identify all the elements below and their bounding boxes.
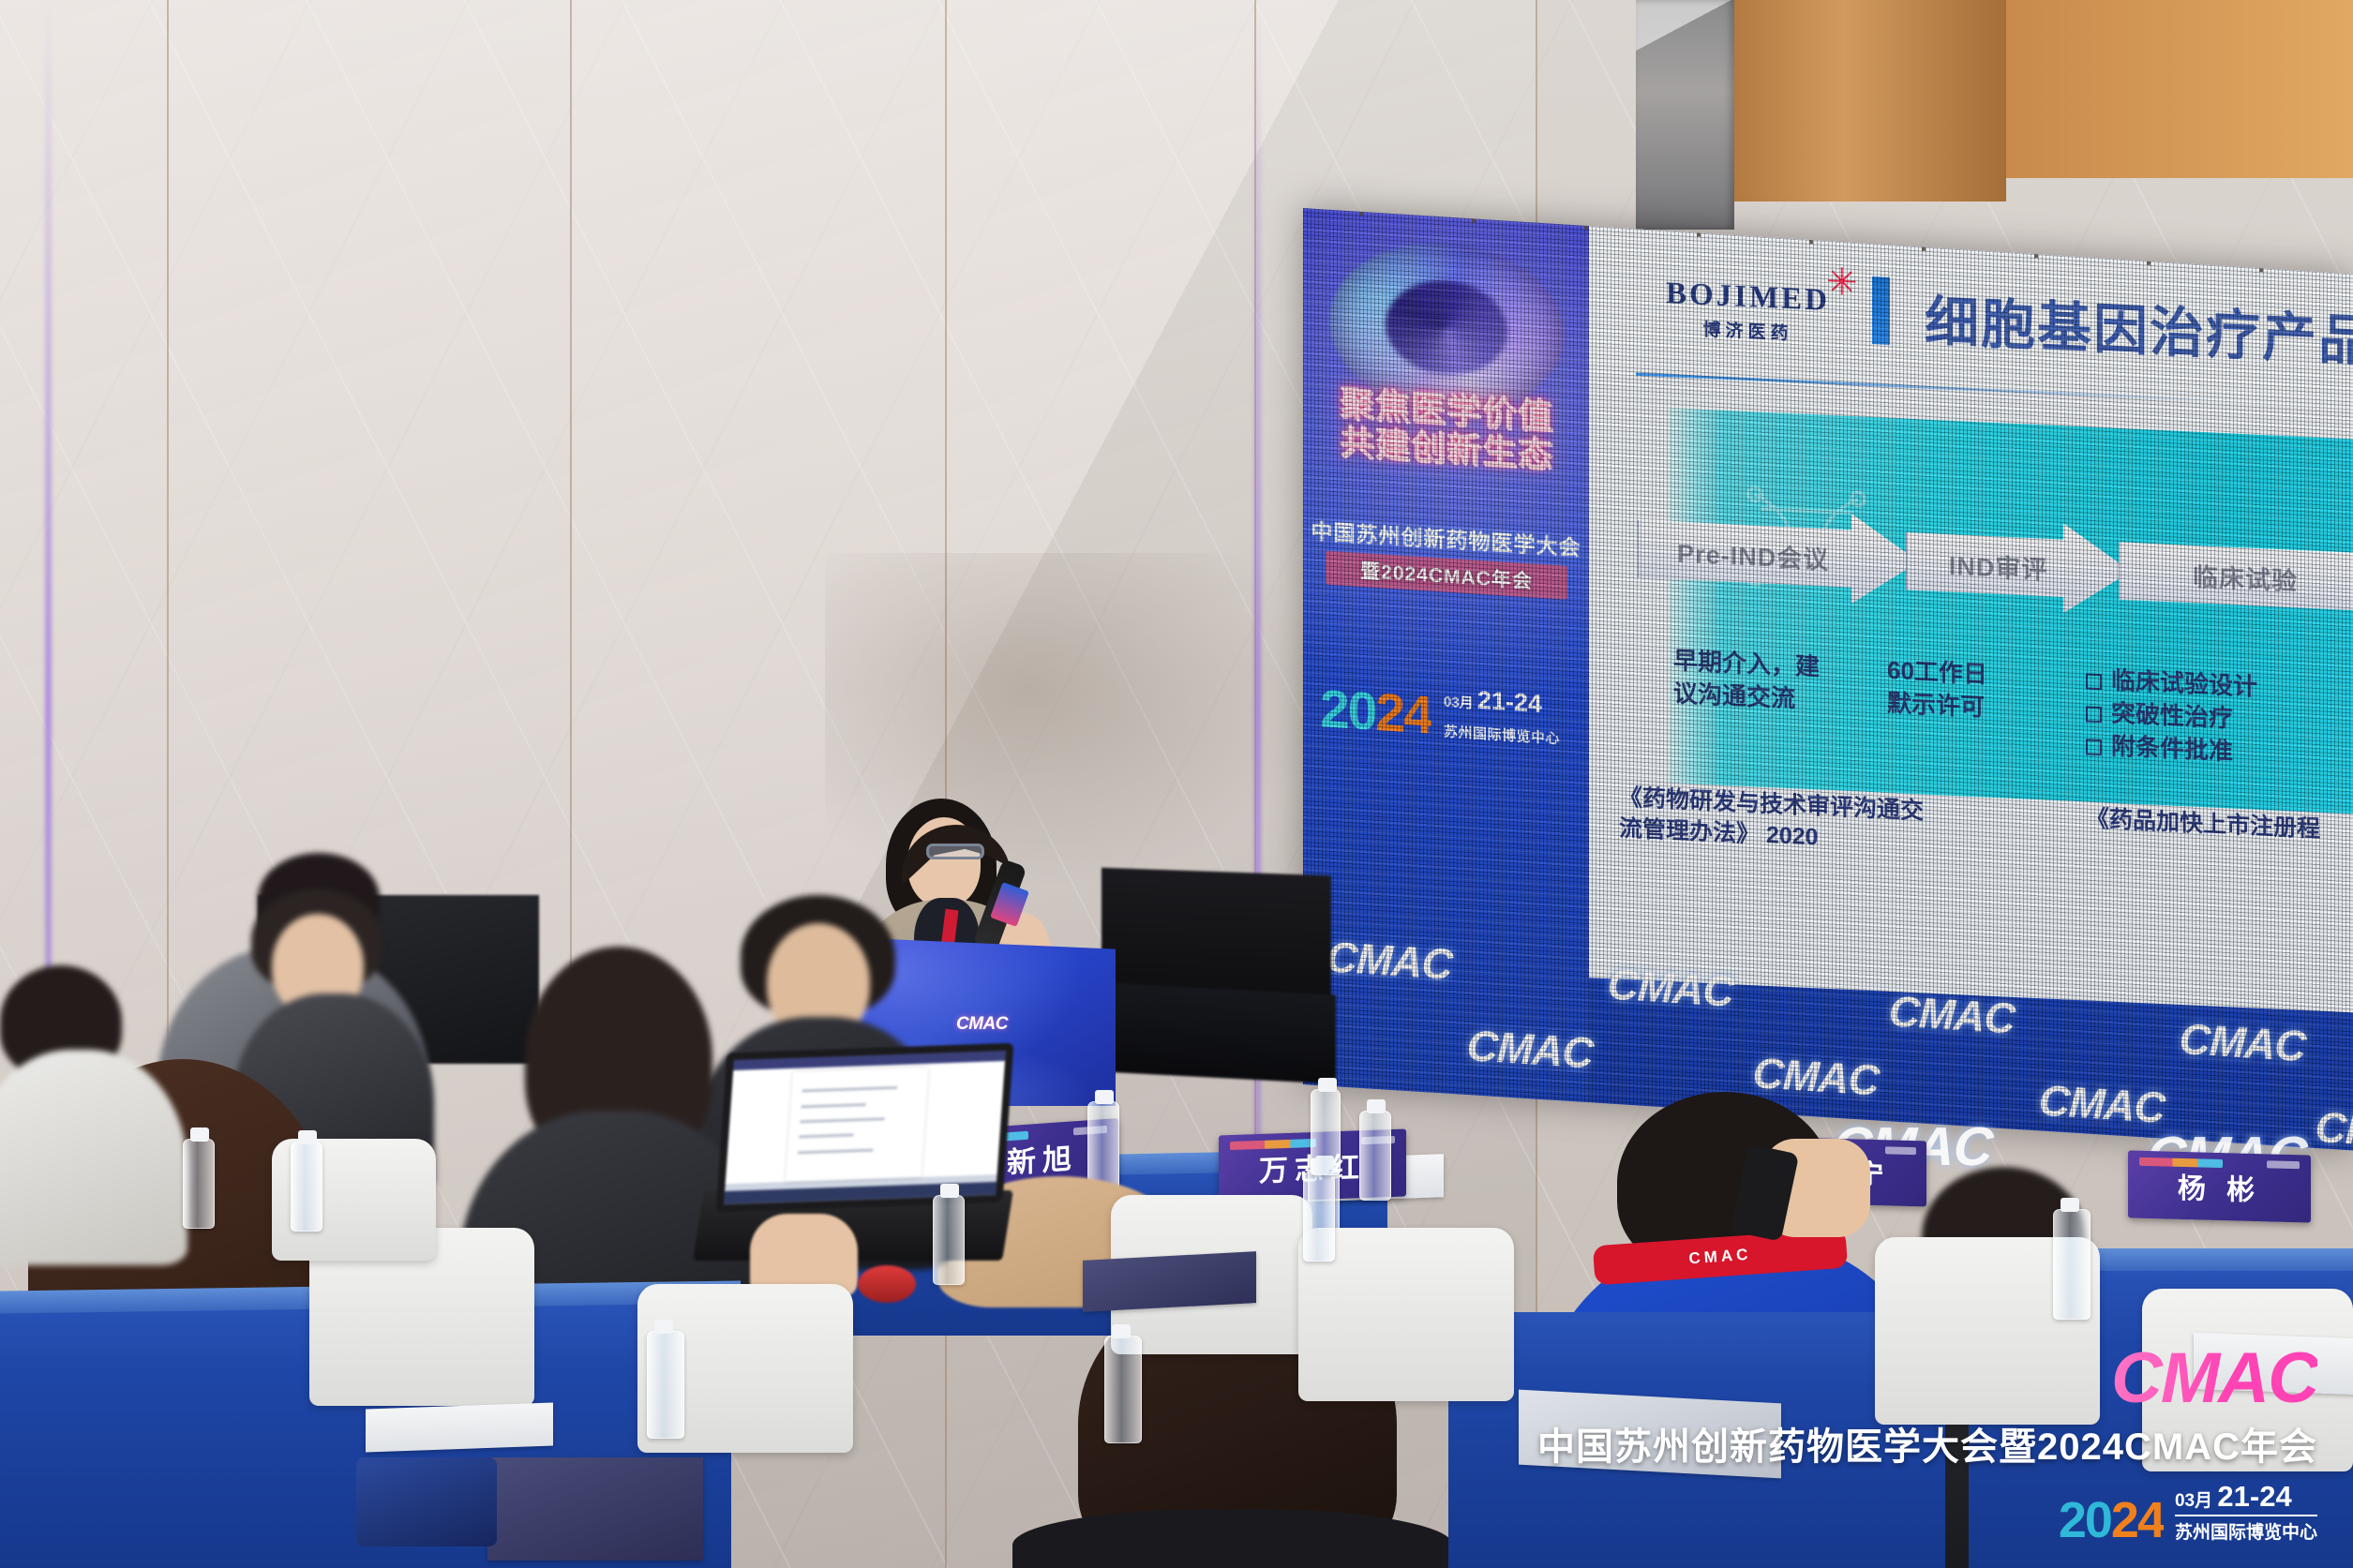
banner-date-range: 21-24 [1477, 686, 1542, 718]
name-plate-label: 杨 彬 [2178, 1165, 2261, 1208]
flow-step-ind-review: IND审评 [1906, 516, 2131, 617]
watermark-conference-name: 中国苏州创新药物医学大会暨2024CMAC年会 [1537, 1416, 2317, 1471]
water-bottle [647, 1331, 684, 1439]
cmac-tile-logo: CMAC [2037, 1075, 2166, 1133]
checklist-label: 临床试验设计 [2111, 666, 2257, 701]
asterisk-icon: ✳ [1826, 269, 1858, 303]
water-bottle [1303, 1172, 1335, 1262]
conference-folder [487, 1457, 703, 1561]
speaker-glasses [926, 844, 984, 859]
checklist-label: 突破性治疗 [2111, 699, 2233, 733]
column-early-engagement: 早期介入，建 议沟通交流 [1673, 644, 1856, 718]
stage-skirt [1102, 982, 1336, 1083]
watermark-dates: 03月 21-24 苏州国际博览中心 [2175, 1480, 2317, 1544]
column-60-working-days: 60工作日 默示许可 [1887, 654, 2042, 727]
column-line: 默示许可 [1887, 687, 2042, 727]
water-bottle [183, 1139, 215, 1229]
water-bottle [1311, 1089, 1341, 1175]
cmac-tile-logo: CMAC [1325, 932, 1454, 990]
flow-step-label: Pre-IND会议 [1677, 532, 1829, 575]
reference-citation: 《药物研发与技术审评沟通交流管理办法》 2020 [1619, 783, 1928, 858]
wood-column [2006, 0, 2353, 178]
podium-cmac-logo: CMAC [956, 1014, 1008, 1035]
conference-folder [1083, 1251, 1256, 1312]
checklist-label: 附条件批准 [2111, 732, 2233, 766]
watermark-date-range: 21-24 [2217, 1480, 2291, 1513]
laptop-screen-lid[interactable] [716, 1043, 1014, 1213]
water-bottle [933, 1195, 965, 1285]
name-plate: 杨 彬 [2128, 1150, 2311, 1222]
water-bottle [2053, 1209, 2091, 1320]
water-bottle [291, 1142, 322, 1232]
water-bottle [1087, 1101, 1119, 1191]
watermark-cmac-logo: CMAC [1537, 1345, 2317, 1412]
banner-year: 2024 [1320, 678, 1431, 746]
cmac-tile-logo: CMAC [2178, 1013, 2307, 1071]
flow-step-clinical-trial: 临床试验 [2119, 526, 2353, 627]
watermark-year: 2024 [2059, 1498, 2164, 1544]
computer-mouse[interactable] [858, 1265, 916, 1303]
presentation-slide: BOJIMED 博济医药 ✳ 细胞基因治疗产品的临 [1589, 208, 2353, 1012]
conference-photo-scene: 聚焦医学价值 共建创新生态 中国苏州创新药物医学大会 暨2024CMAC年会 2… [0, 0, 2353, 1568]
logo-accent-bar [1872, 276, 1890, 345]
banner-date-prefix: 03月 [1444, 694, 1474, 711]
water-bottle [1359, 1111, 1391, 1201]
flow-step-pre-ind: Pre-IND会议 [1638, 504, 1919, 607]
watermark-date-prefix: 03月 [2175, 1491, 2212, 1511]
tablet-device[interactable] [356, 1457, 497, 1546]
flow-step-label: 临床试验 [2193, 556, 2298, 597]
cmac-tile-logo: CMAC [1465, 1020, 1595, 1078]
water-bottle [1104, 1336, 1142, 1443]
wood-column [1734, 0, 2006, 202]
laptop-document-pane [785, 1068, 928, 1182]
laptop-display[interactable] [724, 1051, 1006, 1204]
led-video-wall: 聚焦医学价值 共建创新生态 中国苏州创新药物医学大会 暨2024CMAC年会 2… [1303, 208, 2353, 1150]
event-watermark: CMAC 中国苏州创新药物医学大会暨2024CMAC年会 2024 03月 21… [1537, 1345, 2317, 1544]
checkbox-icon [2086, 706, 2102, 723]
cmac-tile-logo: CMAC [2314, 1101, 2353, 1150]
flow-step-label: IND审评 [1949, 545, 2048, 586]
papers [366, 1403, 553, 1453]
cmac-tile-logo: CMAC [1887, 985, 2016, 1043]
column-checklist: 临床试验设计 突破性治疗 附条件批准 [2086, 663, 2353, 773]
banner-headline: 聚焦医学价值 共建创新生态 [1303, 381, 1589, 477]
cmac-tile-logo: CMAC [1751, 1047, 1881, 1105]
checkbox-icon [2086, 673, 2102, 690]
marble-column [1636, 0, 1734, 230]
watermark-venue: 苏州国际博览中心 [2175, 1515, 2317, 1544]
banner-date: 03月 21-24 [1444, 683, 1542, 719]
lanyard-label: CMAC [1688, 1246, 1752, 1269]
checkbox-icon [2086, 739, 2102, 755]
bojimed-logo: BOJIMED 博济医药 [1647, 276, 1849, 348]
cmac-tile-logo: CMAC [1606, 959, 1735, 1017]
banner-venue: 苏州国际博览中心 [1444, 721, 1560, 748]
laptop-titlebar [733, 1051, 1006, 1070]
